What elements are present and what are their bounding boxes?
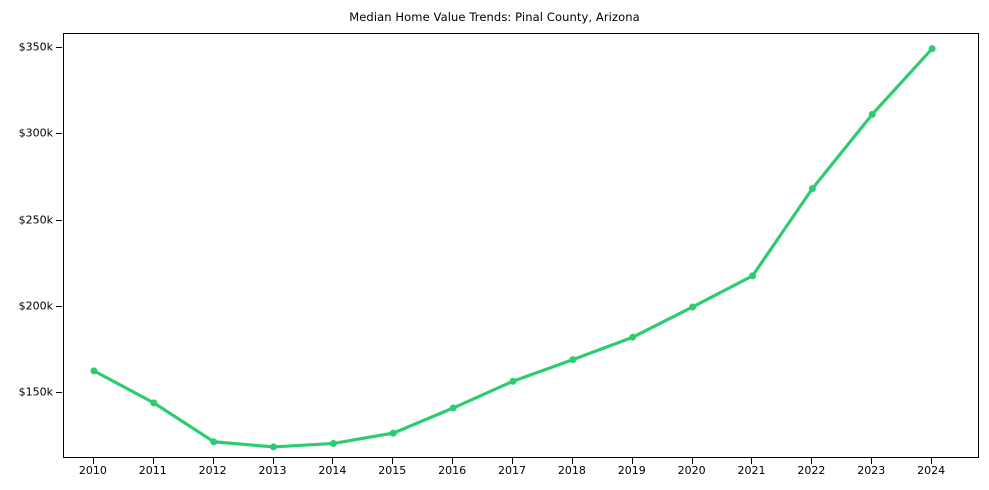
- x-axis-tick-mark: [392, 458, 393, 464]
- x-axis-tick-label: 2024: [917, 464, 945, 477]
- x-axis-tick-mark: [213, 458, 214, 464]
- y-axis-tick-label: $350k: [19, 40, 53, 53]
- x-axis-tick-mark: [692, 458, 693, 464]
- x-axis-tick-label: 2021: [737, 464, 765, 477]
- x-axis-tick-label: 2012: [199, 464, 227, 477]
- y-axis-tick-labels: $150k$200k$250k$300k$350k: [0, 0, 53, 490]
- x-axis-tick-mark: [931, 458, 932, 464]
- x-axis-tick-label: 2013: [259, 464, 287, 477]
- x-axis-tick-mark: [871, 458, 872, 464]
- y-axis-tick-label: $200k: [19, 299, 53, 312]
- y-axis-tick-mark: [56, 133, 62, 134]
- x-axis-tick-label: 2017: [498, 464, 526, 477]
- data-point-marker: [210, 438, 217, 445]
- x-axis-tick-label: 2020: [678, 464, 706, 477]
- x-axis-tick-mark: [512, 458, 513, 464]
- plot-area: [63, 33, 979, 458]
- series-line-median-home-value: [94, 49, 932, 447]
- data-point-marker: [450, 405, 457, 412]
- x-axis-tick-mark: [93, 458, 94, 464]
- x-axis-tick-mark: [273, 458, 274, 464]
- x-axis-tick-label: 2018: [558, 464, 586, 477]
- series-markers: [90, 45, 935, 450]
- x-axis-tick-mark: [632, 458, 633, 464]
- data-point-marker: [569, 356, 576, 363]
- x-axis-tick-mark: [153, 458, 154, 464]
- line-chart-svg: [64, 34, 980, 459]
- x-axis-tick-mark: [452, 458, 453, 464]
- y-axis-tick-label: $150k: [19, 386, 53, 399]
- data-point-marker: [270, 443, 277, 450]
- data-point-marker: [929, 45, 936, 52]
- data-point-marker: [150, 399, 157, 406]
- x-axis-tick-mark: [332, 458, 333, 464]
- chart-title: Median Home Value Trends: Pinal County, …: [0, 10, 989, 24]
- y-axis-tick-mark: [56, 220, 62, 221]
- x-axis-tick-mark: [751, 458, 752, 464]
- data-point-marker: [689, 303, 696, 310]
- data-point-marker: [330, 440, 337, 447]
- x-axis-tick-label: 2016: [438, 464, 466, 477]
- x-axis-tick-label: 2010: [79, 464, 107, 477]
- data-point-marker: [869, 111, 876, 118]
- x-axis-tick-label: 2011: [139, 464, 167, 477]
- x-axis-tick-mark: [811, 458, 812, 464]
- data-point-marker: [510, 378, 517, 385]
- y-axis-tick-label: $250k: [19, 213, 53, 226]
- data-point-marker: [90, 367, 97, 374]
- y-axis-tick-mark: [56, 306, 62, 307]
- x-axis-tick-label: 2014: [318, 464, 346, 477]
- data-point-marker: [809, 185, 816, 192]
- x-axis-tick-label: 2019: [618, 464, 646, 477]
- data-point-marker: [629, 334, 636, 341]
- x-axis-tick-label: 2023: [857, 464, 885, 477]
- y-axis-tick-label: $300k: [19, 127, 53, 140]
- y-axis-tick-mark: [56, 47, 62, 48]
- data-point-marker: [749, 272, 756, 279]
- x-axis-tick-label: 2015: [378, 464, 406, 477]
- y-axis-tick-mark: [56, 392, 62, 393]
- x-axis-tick-mark: [572, 458, 573, 464]
- data-point-marker: [390, 430, 397, 437]
- x-axis-tick-label: 2022: [797, 464, 825, 477]
- chart-figure: Median Home Value Trends: Pinal County, …: [0, 0, 989, 490]
